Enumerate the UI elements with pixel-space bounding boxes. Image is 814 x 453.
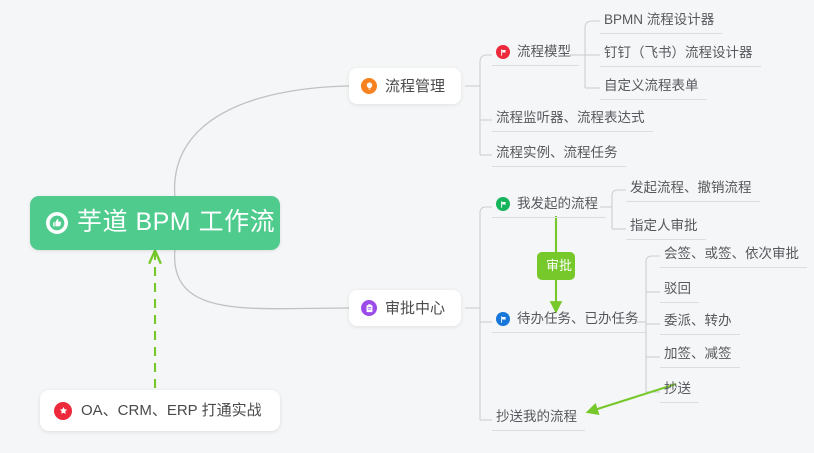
topic-label: 加签、减签 <box>664 347 732 362</box>
root-label: 芋道 BPM 工作流 <box>77 210 275 235</box>
topic-label: 流程实例、流程任务 <box>496 146 618 161</box>
flag-icon <box>496 197 510 211</box>
topic-label: 抄送我的流程 <box>496 410 577 425</box>
topic-listener-expression[interactable]: 流程监听器、流程表达式 <box>492 108 653 132</box>
topic-add-remove-sign[interactable]: 加签、减签 <box>660 344 740 368</box>
topic-label: 流程模型 <box>517 45 571 60</box>
topic-cc[interactable]: 抄送 <box>660 379 699 403</box>
root-node[interactable]: 芋道 BPM 工作流 <box>30 196 280 250</box>
topic-label: 指定人审批 <box>630 219 698 234</box>
topic-label: 发起流程、撤销流程 <box>630 181 752 196</box>
topic-dingtalk-feishu-designer[interactable]: 钉钉（飞书）流程设计器 <box>600 43 761 67</box>
topic-label: 抄送 <box>664 382 691 397</box>
topic-cc-to-me[interactable]: 抄送我的流程 <box>492 407 585 431</box>
branch-label: 审批中心 <box>385 301 445 316</box>
topic-label: 委派、转办 <box>664 314 732 329</box>
topic-countersign[interactable]: 会签、或签、依次审批 <box>660 244 807 268</box>
topic-label: 会签、或签、依次审批 <box>664 247 799 262</box>
approve-tag[interactable]: 审批 <box>537 252 575 280</box>
topic-process-model[interactable]: 流程模型 <box>492 42 579 66</box>
topic-assigned-approver[interactable]: 指定人审批 <box>626 216 706 240</box>
topic-label: 待办任务、已办任务 <box>517 312 639 327</box>
lightbulb-icon <box>361 78 377 94</box>
flag-icon <box>496 312 510 326</box>
topic-instance-task[interactable]: 流程实例、流程任务 <box>492 143 626 167</box>
star-icon <box>54 402 72 420</box>
topic-label: 我发起的流程 <box>517 197 598 212</box>
mindmap-canvas: 芋道 BPM 工作流 流程管理 流程模型 BPMN 流程设计器 钉钉（飞书）流程… <box>0 0 814 453</box>
topic-custom-process-form[interactable]: 自定义流程表单 <box>600 76 707 100</box>
clipboard-icon <box>361 300 377 316</box>
topic-label: 驳回 <box>664 282 691 297</box>
topic-todo-done-tasks[interactable]: 待办任务、已办任务 <box>492 309 647 333</box>
branch-approval-center[interactable]: 审批中心 <box>349 290 461 326</box>
topic-reject[interactable]: 驳回 <box>660 279 699 303</box>
topic-label: 自定义流程表单 <box>604 79 699 94</box>
branch-label: 流程管理 <box>385 79 445 94</box>
thumbs-up-icon <box>46 212 68 234</box>
note-label: OA、CRM、ERP 打通实战 <box>81 403 262 418</box>
topic-bpmn-designer[interactable]: BPMN 流程设计器 <box>600 10 722 34</box>
note-card-integration[interactable]: OA、CRM、ERP 打通实战 <box>40 390 280 431</box>
flag-icon <box>496 45 510 59</box>
topic-label: BPMN 流程设计器 <box>604 13 714 28</box>
topic-delegate-transfer[interactable]: 委派、转办 <box>660 311 740 335</box>
topic-my-started-processes[interactable]: 我发起的流程 <box>492 194 606 218</box>
topic-label: 流程监听器、流程表达式 <box>496 111 645 126</box>
topic-label: 钉钉（飞书）流程设计器 <box>604 46 753 61</box>
topic-start-cancel-process[interactable]: 发起流程、撤销流程 <box>626 178 760 202</box>
branch-process-management[interactable]: 流程管理 <box>349 68 461 104</box>
